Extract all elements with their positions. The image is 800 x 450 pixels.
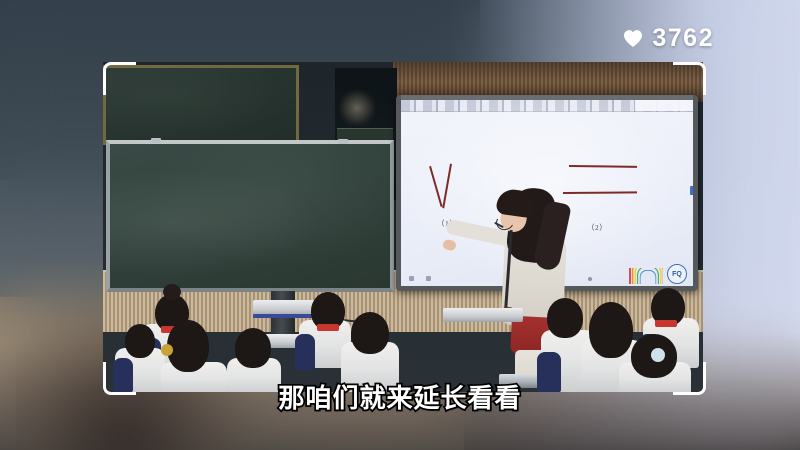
doorway-light <box>339 90 375 126</box>
toolbar-icon-left-1[interactable] <box>409 276 414 281</box>
rainbow-arc-blue <box>640 270 657 284</box>
student-left-3-hair-tie <box>161 344 173 356</box>
student-left-3-head <box>167 320 209 372</box>
screen-side-indicator <box>690 186 693 195</box>
classroom-photo: （1） （2） <box>103 62 703 392</box>
student-left-1-hair-bun <box>163 284 181 300</box>
board-clip-left <box>151 138 161 143</box>
subtitle-text: 那咱们就来延长看看 <box>0 378 800 415</box>
video-frame: （1） （2） <box>0 0 800 450</box>
desk-right <box>443 308 523 322</box>
toolbar-icon-left-2[interactable] <box>426 276 431 281</box>
rainbow-graphic <box>629 268 663 284</box>
student-right-3-neckerchief <box>655 320 677 327</box>
toolbar-icon-center[interactable] <box>588 277 592 281</box>
board-clip-right <box>338 139 348 144</box>
figure2-label: （2） <box>587 222 607 233</box>
fq-badge-icon[interactable]: FQ <box>667 264 687 284</box>
blackboard-front-surface <box>110 144 390 288</box>
blackboard-front <box>106 140 394 292</box>
frame-bracket-top-right <box>673 62 706 95</box>
like-count-label: 3762 <box>652 24 714 53</box>
student-center-1-shoulder <box>295 334 315 370</box>
like-counter[interactable]: 3762 <box>623 24 714 53</box>
student-left-4-head <box>235 328 271 368</box>
heart-icon <box>623 29 643 48</box>
student-right-4-hair-clip <box>651 348 665 362</box>
student-right-1-head <box>547 298 583 338</box>
student-center-2-head <box>351 312 389 354</box>
student-center-1-neckerchief <box>317 324 339 331</box>
frame-bracket-top-left <box>103 62 136 95</box>
student-left-2-head <box>125 324 155 358</box>
student-right-2-head <box>589 302 633 358</box>
